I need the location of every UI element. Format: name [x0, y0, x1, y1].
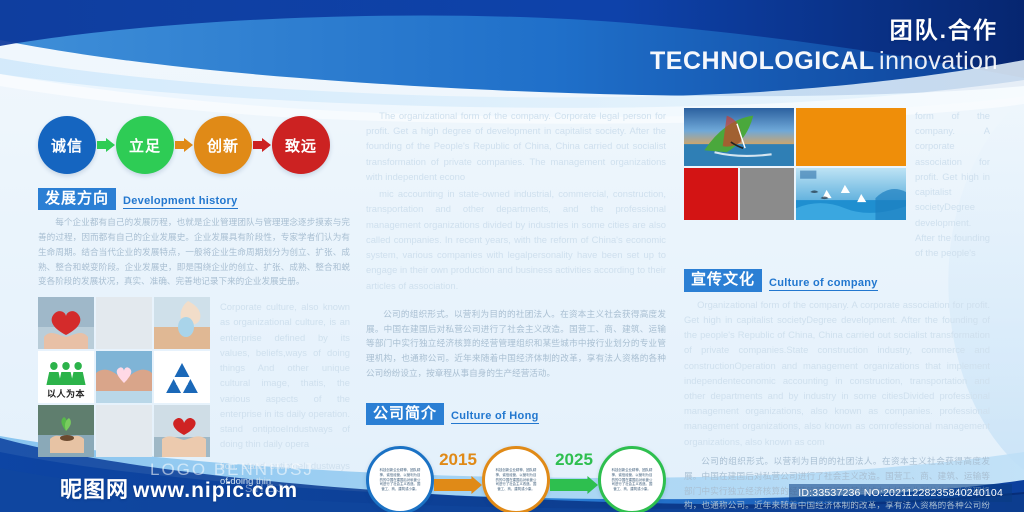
left-side-paragraph: Corporate culture, also known as organiz…	[220, 299, 350, 451]
photo-hands-heart-red	[38, 297, 94, 349]
poster-board: 团队.合作 TECHNOLOGICAL innovation 诚信 立足 创新	[0, 0, 1024, 512]
photo-ocean-sailing	[796, 168, 906, 220]
header-title-cn: 团队.合作	[650, 18, 998, 43]
timeline-year-2025: 2025	[555, 450, 593, 470]
center-en-paragraph-2: mic accounting in state-owned industrial…	[366, 186, 666, 293]
keyword-circle-row: 诚信 立足 创新 致远	[38, 108, 350, 182]
section-title-cn: 发展方向	[38, 188, 116, 210]
section-header-development: 发展方向 Development history	[38, 188, 350, 210]
timeline-node-1[interactable]: 科技创新企业精神、团队精神、诚信经营、以营利为目的的中国在建国后对私营公司进行了…	[366, 446, 434, 512]
keyword-label: 立足	[129, 135, 161, 156]
right-side-paragraph: form of the company. A corporate associa…	[915, 108, 990, 260]
photo-red-block	[684, 168, 738, 220]
photo-people-icon: 以人为本	[38, 351, 94, 403]
center-cn-paragraph: 公司的组织形式。以营利为目的的社团法人。在资本主义社会获得高度发展。中国在建国后…	[366, 307, 666, 381]
photo-triangle-logo	[154, 351, 210, 403]
arrow-connector-2	[174, 138, 194, 152]
photo-orange-block	[796, 108, 906, 166]
timeline-node-3[interactable]: 科技创新企业精神、团队精神、诚信经营、以营利为目的的中国在建国后对私营公司进行了…	[598, 446, 666, 512]
section-title-en: Culture of company	[769, 277, 878, 291]
photo-hands-holding-heart	[154, 405, 210, 457]
site-watermark: 昵图网 www.nipic.com	[60, 472, 298, 504]
header-title-en: TECHNOLOGICAL innovation	[650, 47, 998, 76]
photo-blank-1	[96, 297, 152, 349]
right-side-text-block: form of the company. A corporate associa…	[915, 108, 990, 260]
photo-gray-block	[740, 168, 794, 220]
header-title-en-bold: TECHNOLOGICAL	[650, 47, 875, 75]
header-title-en-light: innovation	[879, 47, 998, 75]
photo-windsurfing	[684, 108, 794, 166]
timeline-year-2015: 2015	[439, 450, 477, 470]
right-photo-area: form of the company. A corporate associa…	[684, 108, 990, 260]
keyword-label: 致远	[285, 135, 317, 156]
right-en-paragraph: Organizational form of the company. A co…	[684, 297, 990, 449]
keyword-circle-lizu[interactable]: 立足	[116, 116, 174, 174]
timeline-arrow-2	[550, 476, 598, 494]
center-column: The organizational form of the company. …	[366, 108, 666, 512]
timeline-node-text: 科技创新企业精神、团队精神、诚信经营、以营利为目的的中国在建国后对私营公司进行了…	[378, 468, 422, 493]
left-column: 诚信 立足 创新 致远 发展方向 Development histor	[38, 108, 350, 488]
timeline-arrow-1	[434, 476, 482, 494]
timeline-connector-2: 2025	[550, 446, 598, 512]
id-badge: ID:33537236 NO:20211228235840240104	[789, 484, 1012, 502]
section-title-cn: 宣传文化	[684, 269, 762, 291]
section-title-en: Culture of Hong	[451, 410, 539, 424]
timeline-connector-1: 2015	[434, 446, 482, 512]
photo-grid-right	[684, 108, 906, 260]
keyword-circle-zhiyuan[interactable]: 致远	[272, 116, 330, 174]
photo-hand-sprout	[38, 405, 94, 457]
photo-hand-water-drop	[154, 297, 210, 349]
keyword-circle-chuangxin[interactable]: 创新	[194, 116, 252, 174]
keyword-circle-chengxin[interactable]: 诚信	[38, 116, 96, 174]
photo-hands-heart-shape	[96, 351, 152, 403]
right-cn-paragraph: 公司的组织形式。以营利为目的的社团法人。在资本主义社会获得高度发展。中国在建国后…	[684, 454, 990, 512]
section-title-cn: 公司简介	[366, 403, 444, 425]
center-en-paragraph-1: The organizational form of the company. …	[366, 108, 666, 184]
header-titles: 团队.合作 TECHNOLOGICAL innovation	[650, 18, 998, 76]
right-photo-row-2	[684, 168, 906, 220]
arrow-connector-1	[96, 138, 116, 152]
site-url: www.nipic.com	[133, 479, 298, 503]
section-title-en: Development history	[123, 195, 238, 209]
section-header-culture: 宣传文化 Culture of company	[684, 269, 990, 291]
arrow-connector-3	[252, 138, 272, 152]
timeline-node-text: 科技创新企业精神、团队精神、诚信经营、以营利为目的的中国在建国后对私营公司进行了…	[494, 468, 538, 493]
right-column: form of the company. A corporate associa…	[684, 108, 990, 512]
company-timeline: 科技创新企业精神、团队精神、诚信经营、以营利为目的的中国在建国后对私营公司进行了…	[366, 437, 666, 512]
section-header-company-intro: 公司简介 Culture of Hong	[366, 403, 666, 425]
keyword-label: 诚信	[51, 135, 83, 156]
photo-blank-2	[96, 405, 152, 457]
site-name-cn: 昵图网	[60, 472, 129, 504]
development-paragraph: 每个企业都有自己的发展历程，也就是企业管理团队与管理理念逐步摸索与完善的过程，因…	[38, 215, 350, 289]
timeline-node-2[interactable]: 科技创新企业精神、团队精神、诚信经营、以营利为目的的中国在建国后对私营公司进行了…	[482, 446, 550, 512]
photo-grid-caption: 以人为本	[38, 387, 94, 400]
timeline-node-text: 科技创新企业精神、团队精神、诚信经营、以营利为目的的中国在建国后对私营公司进行了…	[610, 468, 654, 493]
keyword-label: 创新	[207, 135, 239, 156]
